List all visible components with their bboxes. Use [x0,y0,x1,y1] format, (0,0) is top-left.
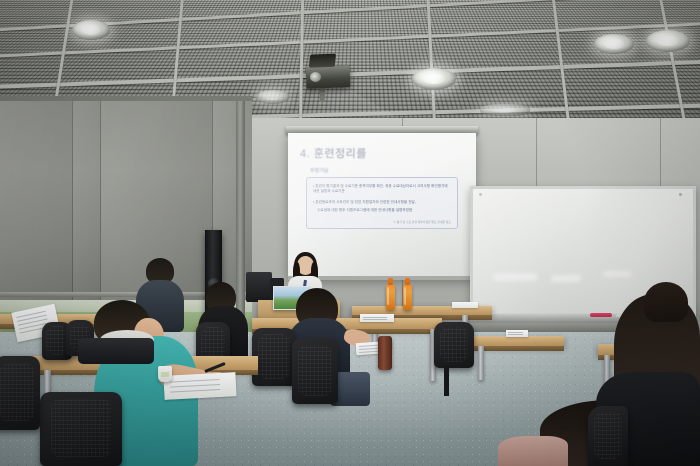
stainless-tumbler [378,336,392,370]
ceiling-light-icon [72,20,110,40]
slide-bullet: 수료생에 대한 향후 지원프로그램에 대한 안내사항을 설명하였음 [317,208,451,213]
ceiling-light-icon [594,34,634,54]
attendee-head-far-right [644,282,688,322]
orange-juice-bottle [386,284,395,310]
paper-cup [158,366,172,382]
slide-subtitle: 부장기님 [310,167,328,174]
monitor [246,272,272,302]
slide-title: 4. 훈련정리를 [300,145,367,161]
bag [78,338,154,364]
chair [434,322,474,368]
table-right-mid [470,336,564,346]
red-marker[interactable] [590,313,612,317]
chair-leg [444,366,449,396]
slide-note: ※ 평가 및 수료 관련 세부사항은 별도 안내문 참조 [393,220,451,224]
chair [292,338,338,404]
chair [588,406,628,466]
table-leg [478,346,484,380]
orange-juice-bottle [403,284,412,310]
handout-paper [506,330,528,337]
projector-lens-icon [310,72,321,82]
chair [0,356,40,430]
handout-paper [452,302,478,308]
projection-screen: 4. 훈련정리를 부장기님 • 훈련자 평가결과 및 수료기준 충족여부를 확인… [288,133,476,279]
handout-paper [163,372,236,400]
chair [40,392,122,466]
ceiling-light-icon [646,30,690,52]
handout-paper [360,314,394,322]
ceiling-light-icon [480,104,530,116]
ceiling-light-icon [412,68,456,90]
slide-content-box: • 훈련자 평가결과 및 수료기준 충족여부를 확인, 최종 수료대상자로서 고… [306,177,458,229]
chair [252,328,296,386]
classroom-photo: 4. 훈련정리를 부장기님 • 훈련자 평가결과 및 수료기준 충족여부를 확인… [0,0,700,466]
window-header [0,96,252,101]
slide-bullet: • 훈련자 평가결과 및 수료기준 충족여부를 확인, 최종 수료대상자로서 고… [313,184,451,195]
projector-mount [320,86,326,102]
attendee-shoulder [498,436,568,466]
ceiling-light-icon [256,90,290,104]
slide-bullet: • 훈련종료후의 사후관리 및 취업 지원절차와 관련한 안내사항을 전달, [313,200,451,205]
